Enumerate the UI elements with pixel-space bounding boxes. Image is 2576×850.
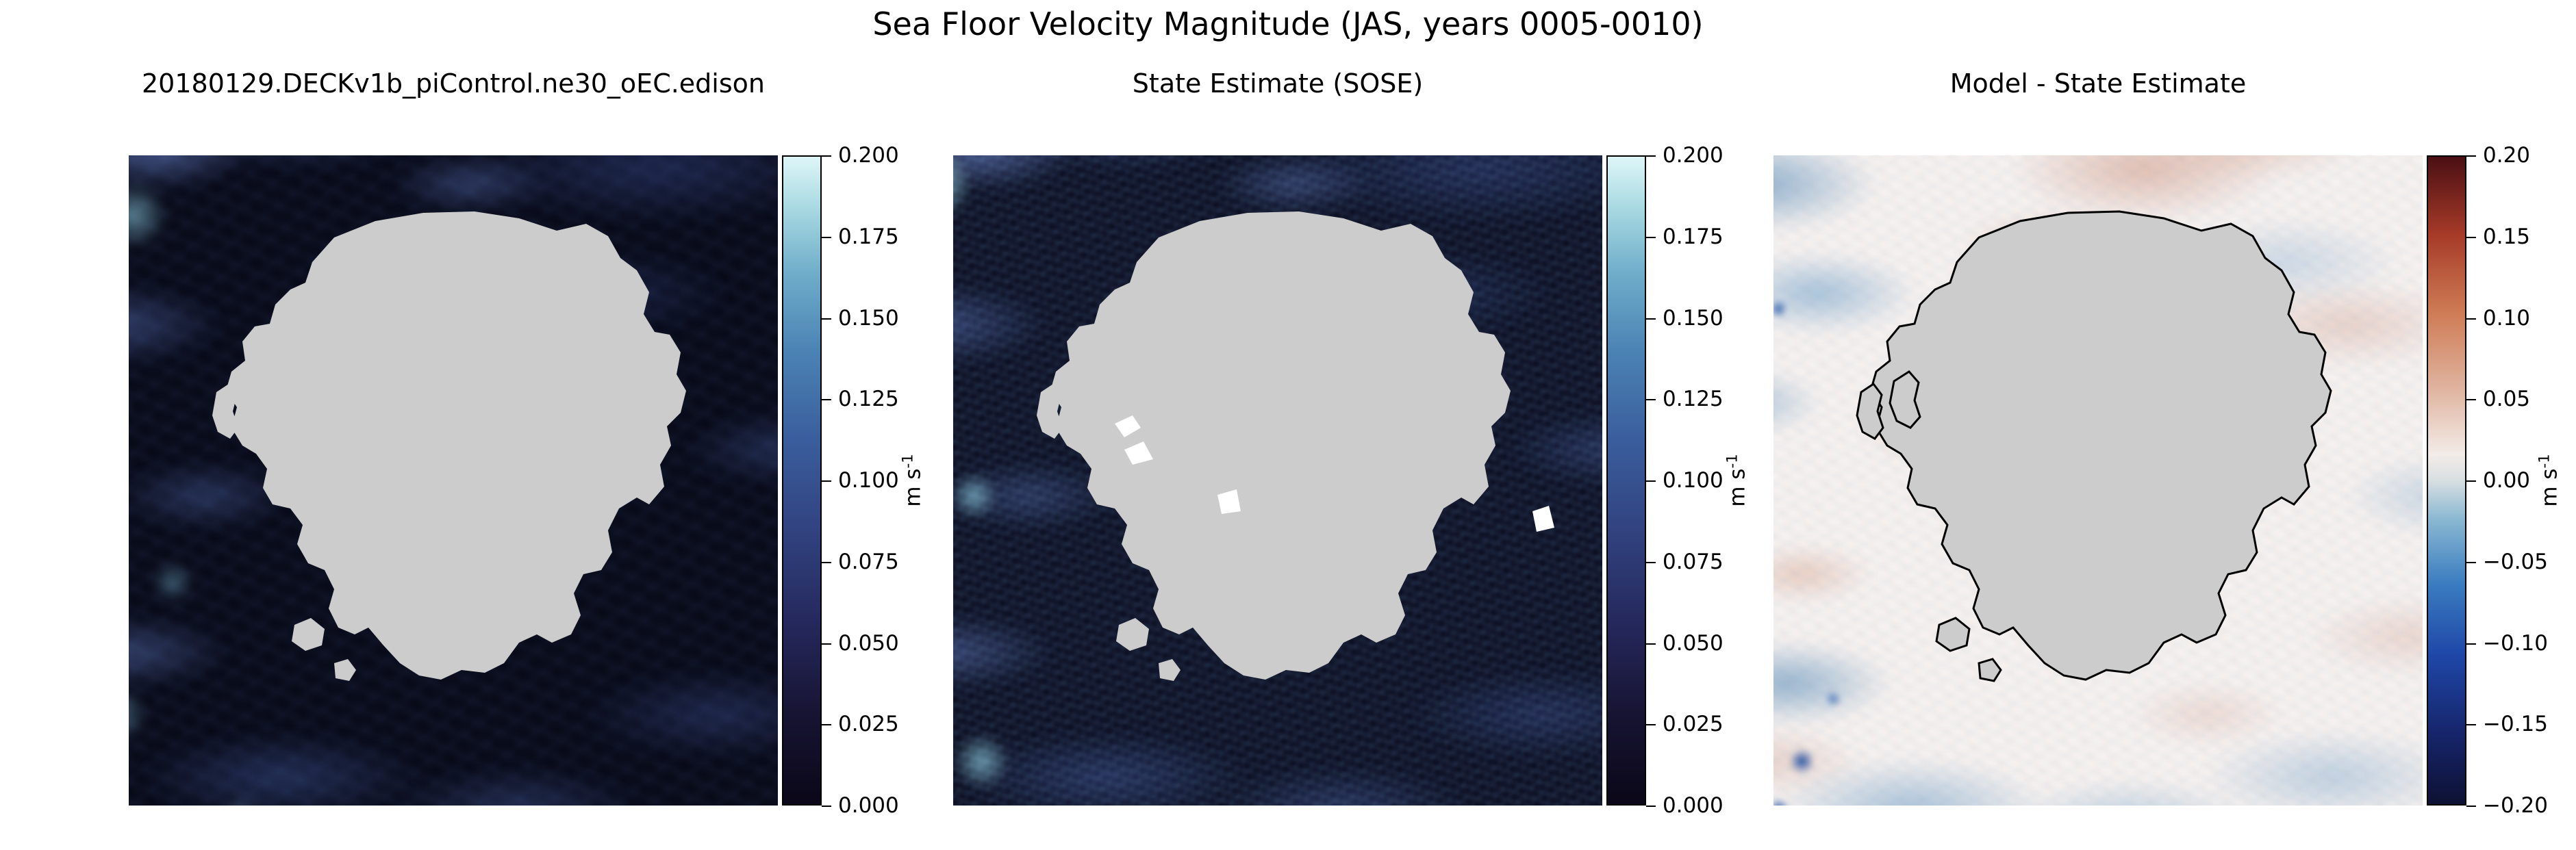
colorbar-tick xyxy=(1646,806,1656,807)
colorbar-tick-label: 0.050 xyxy=(838,631,899,656)
panel-title-difference: Model - State Estimate xyxy=(1773,68,2423,99)
colorbar-unit-state-estimate: m s-1 xyxy=(1723,454,1750,506)
colorbar-tick xyxy=(2466,643,2476,645)
colorbar-tick-label: −0.05 xyxy=(2483,550,2548,574)
colorbar-tick-label: 0.125 xyxy=(838,387,899,411)
colorbar-tick xyxy=(822,806,831,807)
colorbar-tick xyxy=(1646,643,1656,645)
colorbar-tick-label: −0.15 xyxy=(2483,712,2548,736)
colorbar-tick xyxy=(2466,806,2476,807)
colorbar-unit-model: m s-1 xyxy=(898,454,925,506)
colorbar-tick-label: 0.20 xyxy=(2483,143,2530,168)
colorbar-tick xyxy=(1646,480,1656,482)
colorbar-tick xyxy=(2466,318,2476,320)
antarctica-landmass-state-estimate xyxy=(953,155,1602,806)
colorbar-tick-label: −0.20 xyxy=(2483,793,2548,818)
colorbar-tick xyxy=(822,237,831,238)
colorbar-gradient-model xyxy=(782,155,822,806)
antarctica-landmass-difference xyxy=(1773,155,2423,806)
colorbar-tick-label: 0.000 xyxy=(838,793,899,818)
colorbar-tick-label: 0.075 xyxy=(838,550,899,574)
colorbar-tick xyxy=(2466,399,2476,400)
colorbar-tick xyxy=(822,318,831,320)
colorbar-tick-label: 0.025 xyxy=(838,712,899,736)
colorbar-tick xyxy=(822,399,831,400)
colorbar-tick xyxy=(1646,562,1656,563)
panel-title-model: 20180129.DECKv1b_piControl.ne30_oEC.edis… xyxy=(129,68,778,99)
colorbar-tick xyxy=(1646,237,1656,238)
colorbar-tick xyxy=(2466,155,2476,157)
colorbar-tick xyxy=(822,643,831,645)
colorbar-gradient-state-estimate xyxy=(1606,155,1646,806)
colorbar-tick xyxy=(822,155,831,157)
colorbar-tick-label: 0.050 xyxy=(1663,631,1723,656)
colorbar-tick-label: 0.200 xyxy=(838,143,899,168)
colorbar-tick-label: 0.150 xyxy=(1663,306,1723,331)
map-axes-state-estimate[interactable] xyxy=(953,155,1602,806)
colorbar-tick xyxy=(1646,155,1656,157)
colorbar-tick xyxy=(1646,399,1656,400)
colorbar-tick xyxy=(2466,562,2476,563)
colorbar-tick xyxy=(822,562,831,563)
colorbar-tick-label: 0.05 xyxy=(2483,387,2530,411)
colorbar-tick xyxy=(2466,480,2476,482)
colorbar-tick-label: 0.10 xyxy=(2483,306,2530,331)
colorbar-tick xyxy=(2466,237,2476,238)
colorbar-tick-label: 0.100 xyxy=(838,468,899,493)
colorbar-tick xyxy=(2466,724,2476,725)
colorbar-tick-label: −0.10 xyxy=(2483,631,2548,656)
colorbar-tick-label: 0.075 xyxy=(1663,550,1723,574)
colorbar-tick-label: 0.175 xyxy=(838,224,899,249)
map-axes-model[interactable] xyxy=(129,155,778,806)
colorbar-gradient-difference xyxy=(2427,155,2466,806)
colorbar-tick xyxy=(822,724,831,725)
figure-suptitle: Sea Floor Velocity Magnitude (JAS, years… xyxy=(0,5,2576,42)
map-axes-difference[interactable] xyxy=(1773,155,2423,806)
colorbar-tick-label: 0.000 xyxy=(1663,793,1723,818)
colorbar-tick xyxy=(1646,724,1656,725)
antarctica-landmass-model xyxy=(129,155,778,806)
colorbar-tick-label: 0.100 xyxy=(1663,468,1723,493)
colorbar-tick-label: 0.15 xyxy=(2483,224,2530,249)
colorbar-tick-label: 0.125 xyxy=(1663,387,1723,411)
colorbar-tick-label: 0.175 xyxy=(1663,224,1723,249)
colorbar-unit-difference: m s-1 xyxy=(2535,454,2562,506)
colorbar-tick xyxy=(822,480,831,482)
colorbar-tick-label: 0.00 xyxy=(2483,468,2530,493)
panel-title-state-estimate: State Estimate (SOSE) xyxy=(953,68,1602,99)
colorbar-tick-label: 0.150 xyxy=(838,306,899,331)
colorbar-tick-label: 0.025 xyxy=(1663,712,1723,736)
colorbar-tick xyxy=(1646,318,1656,320)
colorbar-tick-label: 0.200 xyxy=(1663,143,1723,168)
